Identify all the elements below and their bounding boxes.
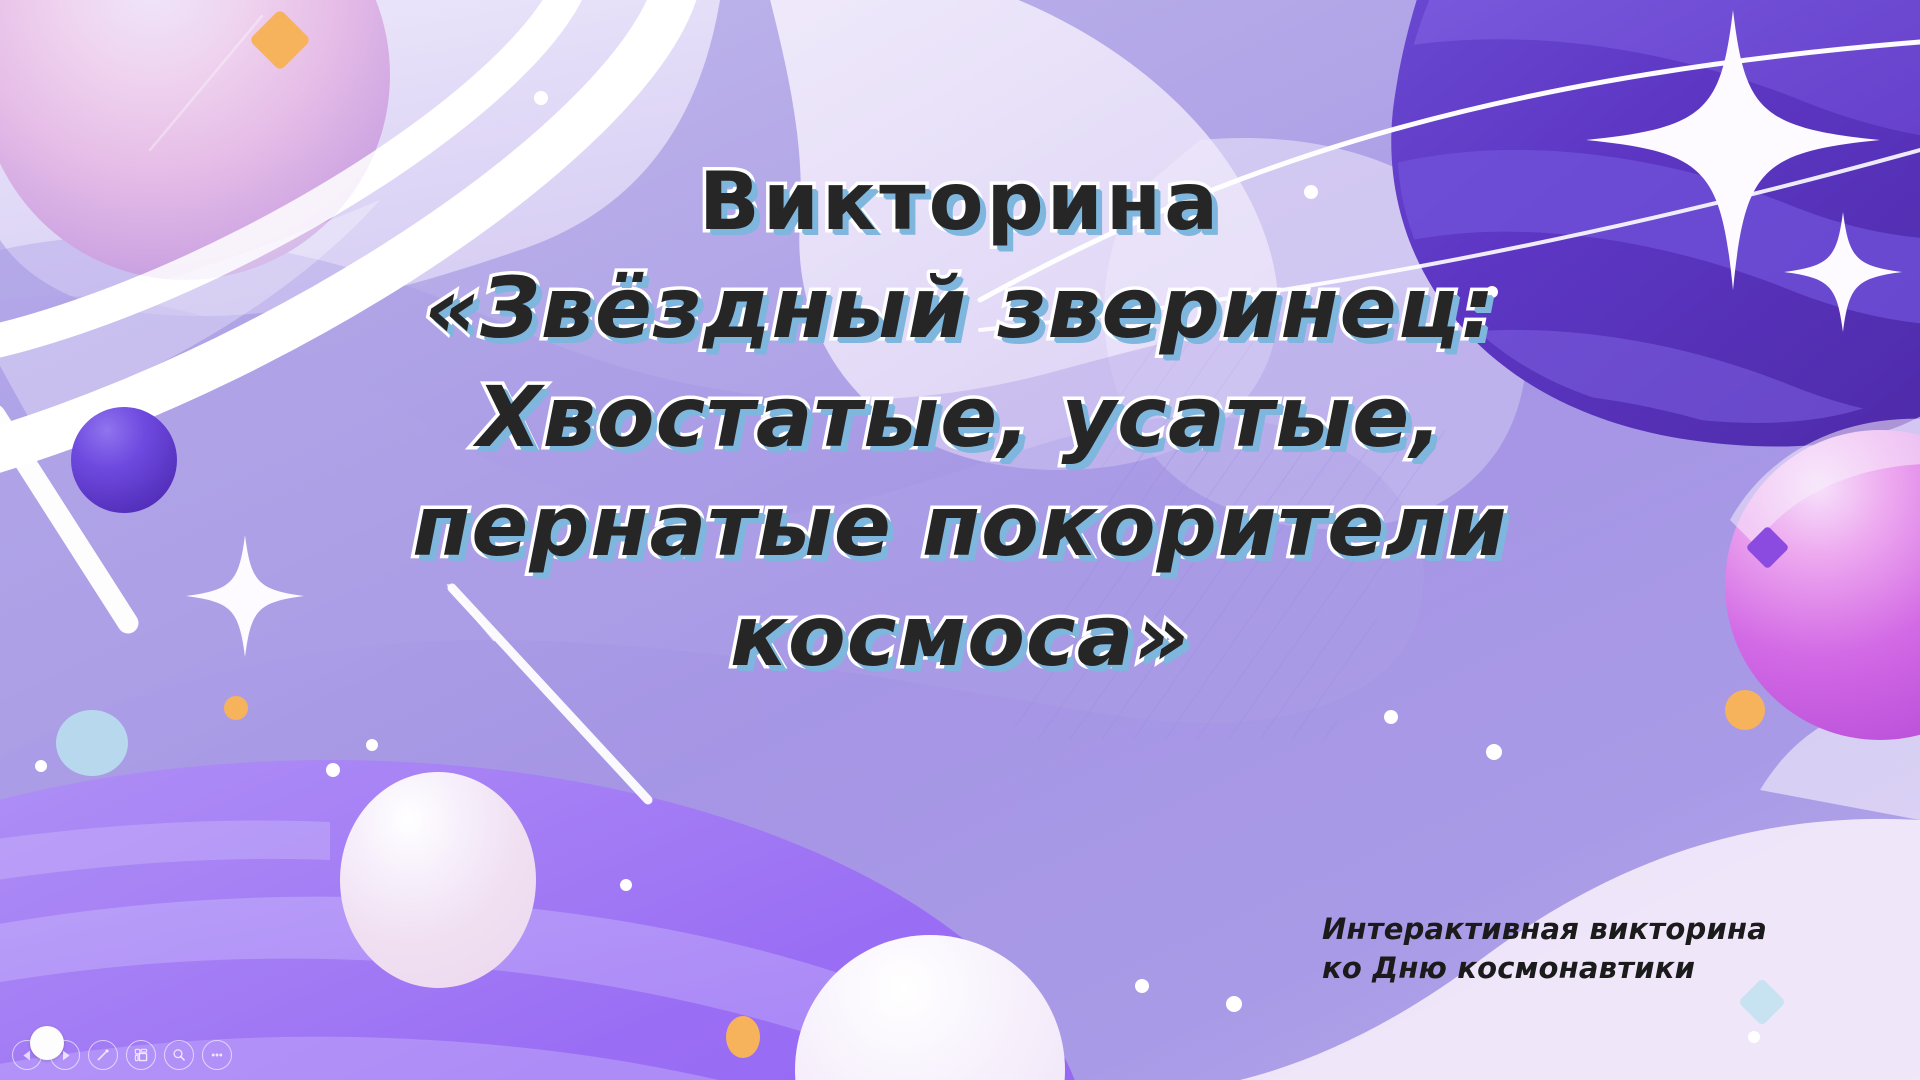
presentation-toolbar[interactable] [6, 1036, 238, 1074]
magnifier-icon [171, 1047, 187, 1063]
triangle-right-icon [59, 1049, 72, 1062]
triangle-left-icon [21, 1049, 34, 1062]
layout-button[interactable] [126, 1040, 156, 1070]
pen-button[interactable] [88, 1040, 118, 1070]
play-button[interactable] [50, 1040, 80, 1070]
layout-grid-icon [133, 1047, 149, 1063]
zoom-button[interactable] [164, 1040, 194, 1070]
presentation-slide: Викторина «Звёздный зверинец: Хвостатые,… [0, 0, 1920, 1080]
pen-icon [95, 1047, 111, 1063]
ellipsis-icon [209, 1047, 225, 1063]
previous-slide-button[interactable] [12, 1040, 42, 1070]
slide-background-artwork [0, 0, 1920, 1080]
more-options-button[interactable] [202, 1040, 232, 1070]
